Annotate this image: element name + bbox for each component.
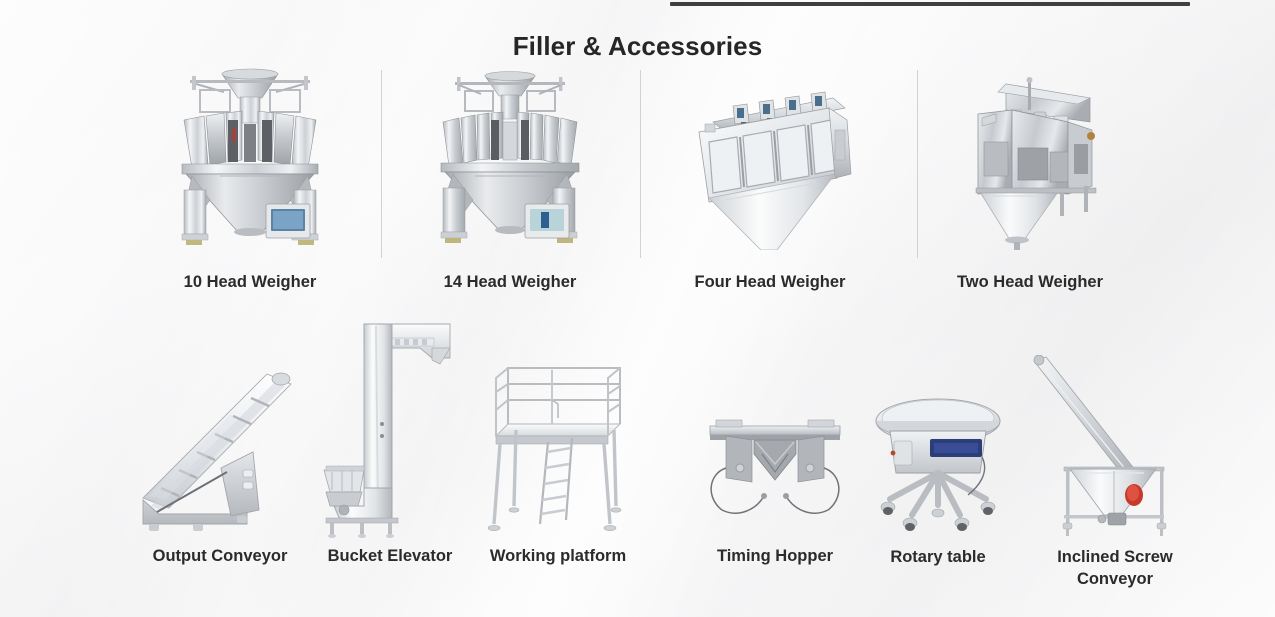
slide-canvas: Filler & Accessories [0, 0, 1275, 617]
product-card-working-platform[interactable]: Working platform [468, 358, 648, 568]
working-platform-photo [488, 358, 628, 538]
product-label: 10 Head Weigher [184, 272, 317, 294]
product-card-fourteen-head-weigher[interactable]: 14 Head Weigher [380, 62, 640, 302]
product-label: Timing Hopper [717, 546, 833, 568]
output-conveyor-photo [135, 346, 305, 538]
fourteen-head-weigher-photo [431, 62, 589, 250]
accessories-row: Output Conveyor [110, 318, 1170, 598]
product-card-two-head-weigher[interactable]: Two Head Weigher [900, 62, 1160, 302]
product-label: Bucket Elevator [328, 546, 453, 568]
product-label: Inclined Screw Conveyor [1020, 547, 1210, 591]
inclined-screw-conveyor-photo [1030, 353, 1200, 539]
page-title: Filler & Accessories [0, 31, 1275, 62]
product-card-rotary-table[interactable]: Rotary table [850, 384, 1026, 569]
product-label: Rotary table [890, 547, 985, 569]
four-head-weigher-photo [685, 62, 855, 250]
product-label: 14 Head Weigher [444, 272, 577, 294]
timing-hopper-photo [700, 408, 850, 538]
bucket-elevator-photo [320, 318, 460, 538]
product-label: Two Head Weigher [957, 272, 1103, 294]
product-label: Output Conveyor [153, 546, 288, 568]
weigher-row: 10 Head Weigher [120, 62, 1160, 302]
product-label: Four Head Weigher [695, 272, 846, 294]
product-card-bucket-elevator[interactable]: Bucket Elevator [302, 318, 478, 568]
product-card-inclined-screw-conveyor[interactable]: Inclined Screw Conveyor [1020, 353, 1210, 591]
product-card-timing-hopper[interactable]: Timing Hopper [690, 408, 860, 568]
product-card-output-conveyor[interactable]: Output Conveyor [130, 346, 310, 568]
product-card-four-head-weigher[interactable]: Four Head Weigher [640, 62, 900, 302]
ten-head-weigher-photo [170, 62, 330, 250]
product-label: Working platform [490, 546, 626, 568]
rotary-table-photo [868, 384, 1008, 539]
product-card-ten-head-weigher[interactable]: 10 Head Weigher [120, 62, 380, 302]
top-divider-rule [670, 2, 1190, 6]
two-head-weigher-photo [950, 62, 1110, 250]
